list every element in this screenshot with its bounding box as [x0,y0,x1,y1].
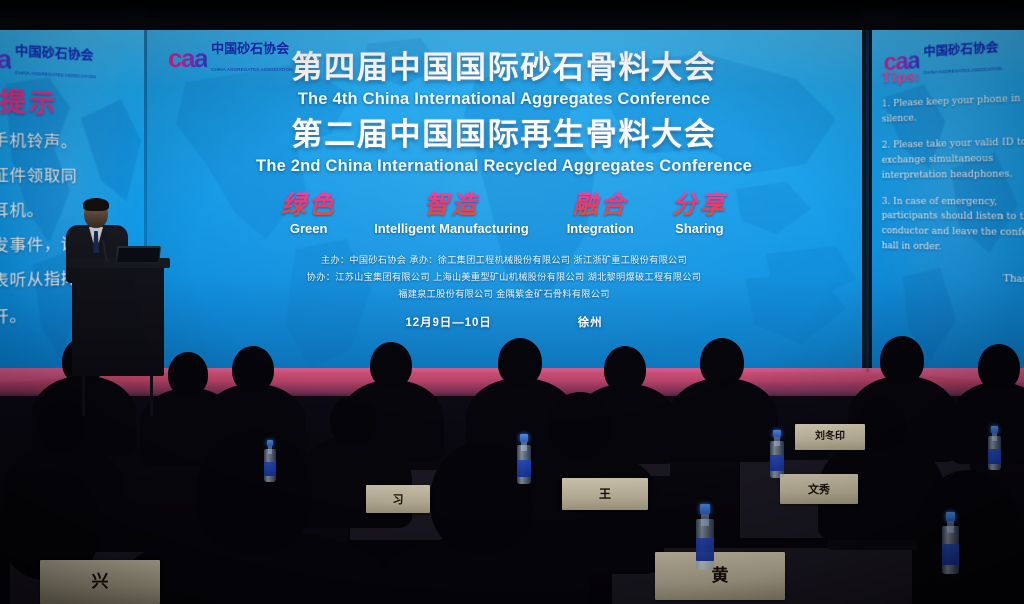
name-card: 刘冬印 [795,424,865,450]
bottle-cap [267,440,274,446]
caa-english-name: CHINA AGGREGATES ASSOCIATION [15,70,96,79]
sponsor-block: 主办：中国砂石协会 承办：徐工集团工程机械股份有限公司 浙江浙矿重工股份有限公司… [146,252,862,303]
sponsor-line: 主办：中国砂石协会 承办：徐工集团工程机械股份有限公司 浙江浙矿重工股份有限公司 [146,252,862,269]
bottle-neck [268,445,273,454]
speaker-glasses-icon [85,209,107,214]
event-date: 12月9日—10日 [405,317,491,329]
bottle-neck [701,512,708,527]
audience-head [168,352,208,396]
podium-leg [150,372,153,416]
name-card-text: 习 [393,494,404,505]
audience-head-foreground [916,470,1020,590]
slogan-cn: 绿色 [281,192,336,217]
podium-leg [82,372,85,416]
slogan-en: Green [281,221,336,236]
bottle-label [696,538,714,560]
slogan-item: 绿色 Green [281,192,336,236]
bottle-cap [991,426,998,433]
audience-head [38,400,86,452]
audience-head [370,342,412,388]
thank-you-note: Thank you [882,269,1024,286]
bottle-cap [700,504,710,514]
slogan-item: 分享 Sharing [672,192,727,236]
caa-wordmark-icon: caa [0,44,11,73]
laptop [115,246,161,266]
water-bottle [264,440,276,482]
audience-head [978,344,1020,390]
slogan-en: Intelligent Manufacturing [374,221,529,236]
name-card: 兴 [40,560,160,604]
notice-line: 声传译耳机。 [0,198,138,225]
ceiling-left-notch [0,0,146,24]
bottle-cap [773,430,781,437]
slogan-item: 融合 Integration [567,192,634,236]
name-card: 文秀 [780,474,858,504]
sponsor-line: 协办：江苏山宝集团有限公司 上海山美重型矿山机械股份有限公司 湖北黎明爆破工程有… [146,269,862,286]
caa-chinese-name: 中国砂石协会 [923,40,998,59]
water-bottle [988,426,1001,470]
tip-item: 3. In case of emergency, participants sh… [882,194,1024,259]
name-card-text: 黄 [712,568,729,585]
slogan-en: Sharing [672,221,727,236]
tip-item: 1. Please keep your phone in silence. [882,90,1024,128]
bottle-label [988,449,1001,464]
conference-title-en-primary: The 4th China International Aggregates C… [146,90,862,108]
podium [72,262,164,376]
slogan-cn: 智造 [374,192,529,217]
name-card-text: 文秀 [808,484,830,495]
name-card-text: 刘冬印 [815,432,845,442]
water-bottle [696,504,714,570]
bottle-label [517,460,531,477]
caa-chinese-name: 中国砂石协会 [15,43,93,63]
audience-head [232,346,274,392]
tips-panel: Tips: 1. Please keep your phone in silen… [882,61,1024,286]
name-card: 王 [562,478,648,510]
notice-title: 温馨提示 [0,78,138,124]
screen-seam-right [866,24,869,372]
bottle-cap [946,512,956,521]
audience-head [880,336,924,384]
slogan-cn: 融合 [567,192,634,217]
water-bottle [942,512,959,574]
name-card-text: 王 [599,488,611,500]
caa-logo-left: caa 中国砂石协会 CHINA AGGREGATES ASSOCIATION [0,38,96,83]
bottle-neck [947,519,954,533]
bottle-label [942,544,959,565]
name-card: 黄 [655,552,785,600]
slogan-row: 绿色 Green 智造 Intelligent Manufacturing 融合… [146,192,862,236]
notice-line: 请关闭手机铃声。 [0,126,138,157]
bottle-label [770,455,784,471]
audience-head [604,346,646,392]
audience-shoulders [296,436,412,528]
audience-shoulders [668,378,778,462]
slogan-en: Integration [567,221,634,236]
audience-head-foreground [196,430,312,554]
water-bottle [517,434,531,484]
name-card-text: 兴 [92,574,109,591]
event-venue: 徐州 [578,314,603,330]
conference-photo: caa 中国砂石协会 CHINA AGGREGATES ASSOCIATION … [0,0,1024,604]
bottle-neck [774,436,780,447]
audience-head [330,396,376,446]
bottle-neck [521,440,527,451]
main-stage-screen: caa 中国砂石协会 CHINA AGGREGATES ASSOCIATION … [146,24,862,372]
name-card: 习 [366,485,430,513]
bottle-cap [520,434,528,442]
audience-shoulders [950,382,1024,464]
sponsor-line: 福建泉工股份有限公司 金隅紫金矿石骨料有限公司 [146,286,862,303]
slogan-cn: 分享 [672,192,727,217]
slogan-item: 智造 Intelligent Manufacturing [374,192,529,236]
audience-head [498,338,542,386]
conference-title-en-secondary: The 2nd China International Recycled Agg… [146,157,862,175]
water-bottle [770,430,784,478]
tip-item: 2. Please take your valid ID to exchange… [882,134,1024,184]
bottle-neck [992,431,997,441]
conference-title-cn-primary: 第四届中国国际砂石骨料大会 [146,52,862,85]
right-wing-screen: caa 中国砂石协会 CHINA AGGREGATES ASSOCIATION … [872,16,1024,384]
ceiling-right-notch [862,0,1024,24]
audience-head [700,338,744,386]
audience-head [548,392,612,458]
laptop-screen [117,248,160,263]
conference-title-cn-secondary: 第二届中国国际再生骨料大会 [146,119,862,152]
bottle-label [264,462,276,476]
event-date-line: 12月9日—10日徐州 [146,314,862,330]
notice-line: 凭有效证件领取同 [0,162,138,190]
